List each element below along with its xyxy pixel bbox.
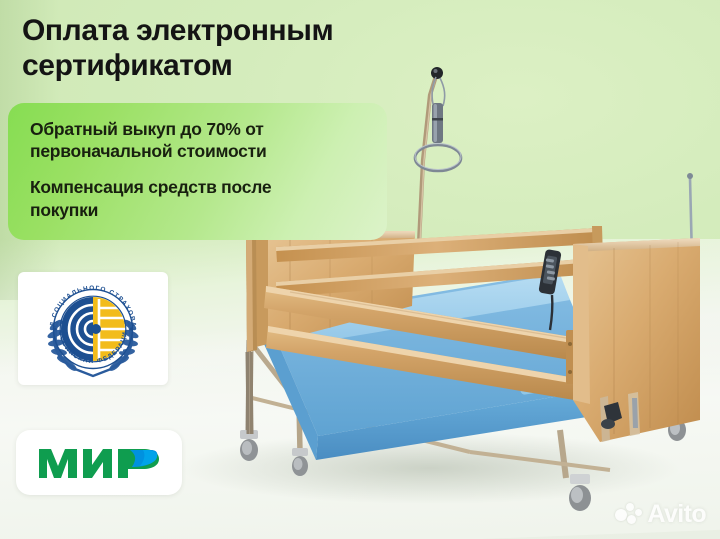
fss-emblem: ФОНД СОЦИАЛЬНОГО СТРАХОВАНИЯ РОССИЙСКАЯ … — [41, 277, 145, 381]
avito-dots-logo — [615, 503, 642, 526]
product-photo-card: Оплата электронным сертификатом Обратный… — [0, 0, 720, 539]
promo-line-buyback: Обратный выкуп до 70% от первоначальной … — [30, 118, 371, 162]
caster-left-rear — [292, 448, 308, 476]
trapeze-lift-pole — [415, 67, 461, 243]
mir-badge-card — [16, 430, 182, 495]
caster-left-front — [240, 430, 258, 461]
promo-line-compensation: Компенсация средств после покупки — [30, 176, 371, 220]
caster-right-front — [569, 474, 591, 511]
mir-payment-logo — [37, 443, 161, 483]
avito-watermark: Avito — [615, 502, 706, 527]
footboard-panel — [573, 238, 700, 442]
promo-panel: Обратный выкуп до 70% от первоначальной … — [8, 103, 387, 240]
fss-badge-card: ФОНД СОЦИАЛЬНОГО СТРАХОВАНИЯ РОССИЙСКАЯ … — [18, 272, 168, 385]
page-title: Оплата электронным сертификатом — [22, 13, 492, 83]
avito-wordmark: Avito — [647, 502, 706, 527]
